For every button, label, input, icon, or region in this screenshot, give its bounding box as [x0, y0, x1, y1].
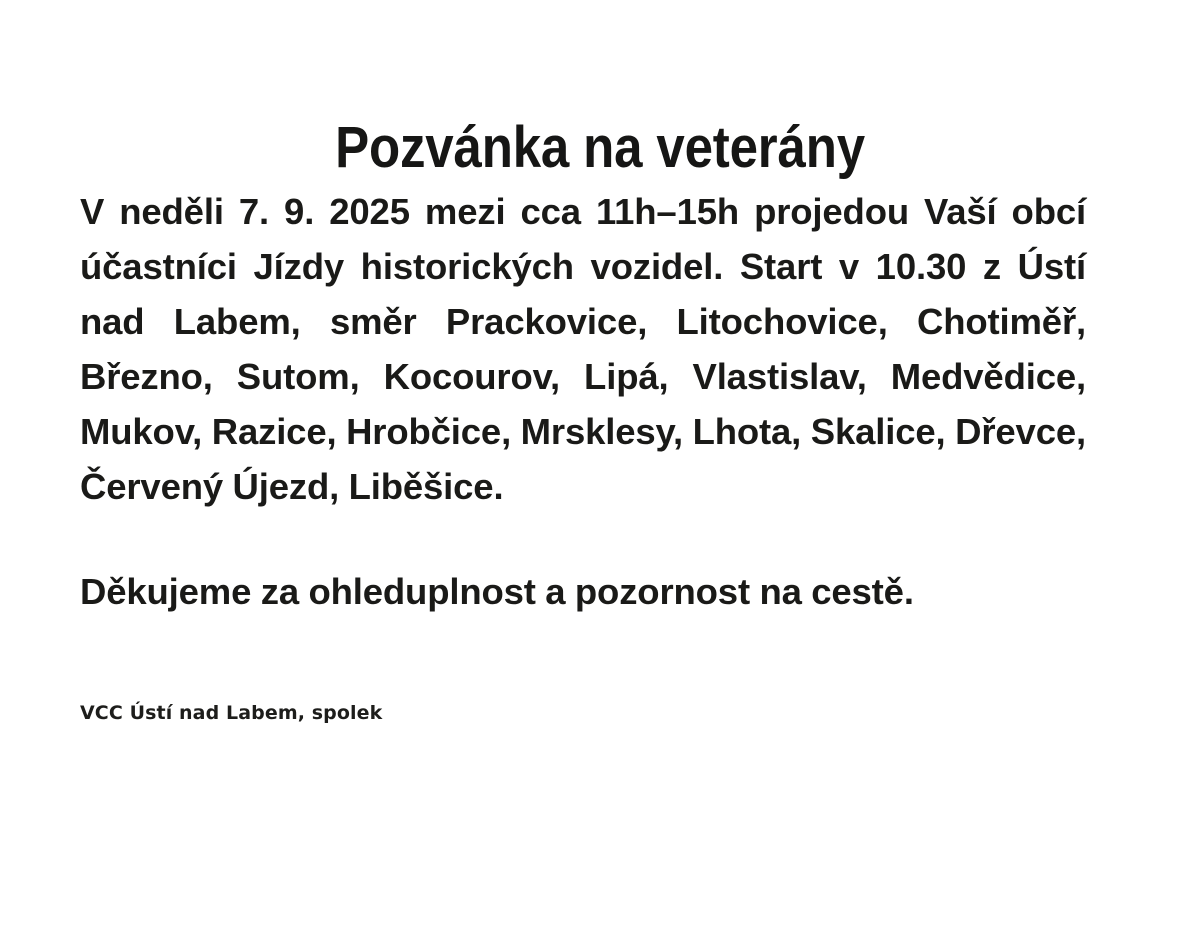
route-paragraph: V neděli 7. 9. 2025 mezi cca 11h–15h pro…: [80, 184, 1086, 514]
thanks-paragraph: Děkujeme za ohleduplnost a pozornost na …: [80, 564, 1086, 619]
document-page: Pozvánka na veterány V neděli 7. 9. 2025…: [0, 0, 1200, 932]
signature-line: VCC Ústí nad Labem, spolek: [80, 700, 382, 726]
page-title: Pozvánka na veterány: [72, 117, 1128, 179]
document-body: V neděli 7. 9. 2025 mezi cca 11h–15h pro…: [80, 184, 1086, 619]
